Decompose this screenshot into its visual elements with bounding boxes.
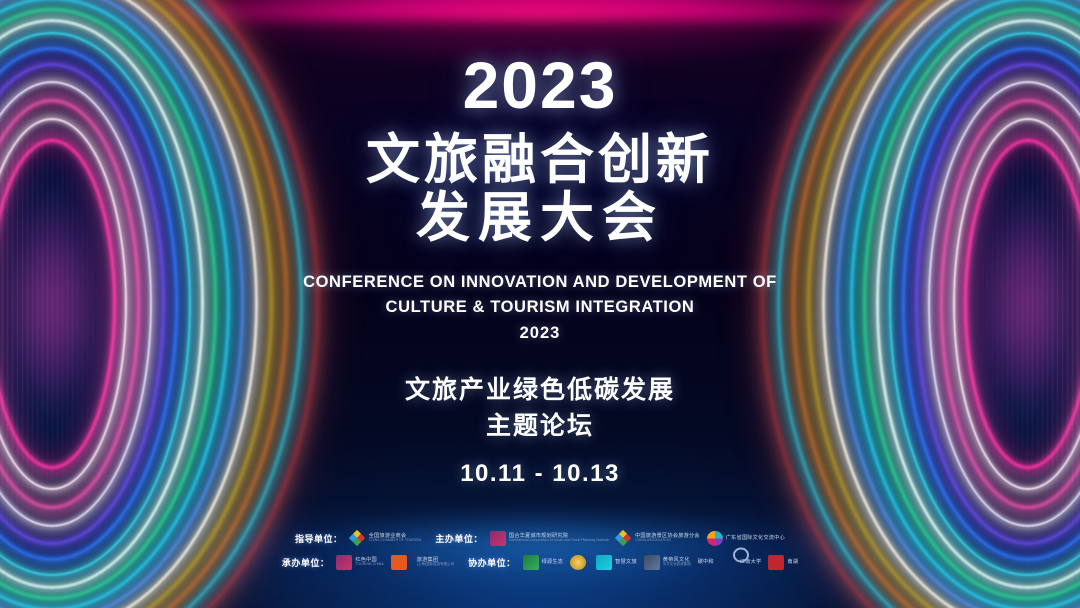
sponsor-logo-mark-icon: [336, 555, 352, 570]
sponsor-logo-mark-icon: [570, 555, 586, 570]
main-title-cn: 文旅融合创新 发展大会: [366, 132, 714, 248]
sponsor-name-cn: 绿源生态: [542, 560, 564, 565]
sponsor-row: 承办单位：红色中国TOURISM CHINA旅游集团(上海)国际旅游有限公司协办…: [282, 555, 798, 570]
sponsor-logo-mark-icon: [644, 555, 660, 570]
sponsor-group: 主办单位：国合华夏城市规划研究院International Corporatio…: [435, 531, 785, 546]
sponsor-name-en: 中华文化旅游集团: [663, 563, 691, 567]
sponsor-name-cn: 智慧文旅: [615, 560, 637, 565]
sponsor-logo[interactable]: 南湖: [768, 555, 798, 570]
sponsor-logo[interactable]: 绿源生态: [523, 555, 564, 570]
main-title-en: CONFERENCE ON INNOVATION AND DEVELOPMENT…: [303, 270, 777, 347]
sponsor-logo-mark-icon: [707, 531, 723, 546]
sponsor-logo-text: 广东省国际文化交流中心: [726, 536, 785, 541]
sponsor-logo-mark-icon: [768, 555, 784, 570]
sponsor-logo[interactable]: 国合华夏城市规划研究院International Corporation of …: [490, 531, 609, 546]
sponsor-category-label: 指导单位：: [295, 532, 343, 545]
sponsor-logo[interactable]: 旅游集团(上海)国际旅游有限公司: [417, 558, 454, 567]
sponsor-category-label: 主办单位：: [435, 532, 483, 545]
sponsor-logo-text: 红色中国TOURISM CHINA: [355, 558, 383, 567]
sponsor-logo-mark-icon: [523, 555, 539, 570]
sponsor-name-en: International Corporation of Urban and R…: [509, 539, 609, 543]
sponsor-logo-text: 全国旅游业商会CHINA CHAMBER OF TOURISM: [369, 534, 422, 543]
sponsor-name-en: CHINA CHAMBER OF TOURISM: [369, 539, 422, 543]
sponsor-logo-mark-icon: [350, 531, 366, 546]
sponsor-logo[interactable]: [570, 555, 589, 570]
sponsor-strip: 指导单位：全国旅游业商会CHINA CHAMBER OF TOURISM主办单位…: [0, 531, 1080, 570]
sponsor-logo-text: 绿源生态: [542, 560, 564, 565]
main-title-cn-line2: 发展大会: [366, 190, 714, 248]
forum-subtitle-line1: 文旅产业绿色低碳发展: [405, 372, 675, 408]
sponsor-logo-text: 碳中和: [698, 560, 714, 565]
sponsor-group: 协办单位：绿源生态智慧文旅黄帝风文化中华文化旅游集团碳中和江南大学南湖: [468, 555, 798, 570]
year-heading: 2023: [463, 52, 618, 118]
sponsor-logo-mark-icon: [596, 555, 612, 570]
sponsor-name-en: TOURISM CHINA: [355, 563, 383, 567]
sponsor-category-label: 协办单位：: [468, 556, 516, 569]
main-title-cn-line1: 文旅融合创新: [366, 130, 714, 190]
poster-content: 2023 文旅融合创新 发展大会 CONFERENCE ON INNOVATIO…: [0, 0, 1080, 608]
sponsor-logo-text: 国合华夏城市规划研究院International Corporation of …: [509, 534, 609, 543]
sponsor-logo[interactable]: 江南大学: [721, 555, 762, 570]
event-dates: 10.11 - 10.13: [460, 460, 620, 488]
sponsor-logo[interactable]: [391, 555, 410, 570]
sponsor-logo[interactable]: 碳中和: [698, 560, 714, 565]
sponsor-row: 指导单位：全国旅游业商会CHINA CHAMBER OF TOURISM主办单位…: [295, 531, 785, 546]
sponsor-logo-mark-icon: [733, 548, 749, 563]
sponsor-logo[interactable]: 广东省国际文化交流中心: [707, 531, 785, 546]
sponsor-logo[interactable]: 智慧文旅: [596, 555, 637, 570]
sponsor-group: 承办单位：红色中国TOURISM CHINA旅游集团(上海)国际旅游有限公司: [282, 555, 454, 570]
main-title-en-year: 2023: [303, 321, 777, 347]
sponsor-logo[interactable]: 中国旅游景区协会旅游分会CHINA ASSOCIATION: [616, 531, 700, 546]
sponsor-logo-mark-icon: [616, 531, 632, 546]
sponsor-logo[interactable]: 红色中国TOURISM CHINA: [336, 555, 383, 570]
sponsor-logo[interactable]: 黄帝风文化中华文化旅游集团: [644, 555, 691, 570]
sponsor-category-label: 承办单位：: [282, 556, 330, 569]
poster-root: 2023 文旅融合创新 发展大会 CONFERENCE ON INNOVATIO…: [0, 0, 1080, 608]
sponsor-group: 指导单位：全国旅游业商会CHINA CHAMBER OF TOURISM: [295, 531, 421, 546]
sponsor-logo-text: 黄帝风文化中华文化旅游集团: [663, 558, 691, 567]
sponsor-name-en: CHINA ASSOCIATION: [635, 539, 700, 543]
forum-subtitle: 文旅产业绿色低碳发展 主题论坛: [405, 372, 675, 445]
sponsor-logo-mark-icon: [490, 531, 506, 546]
sponsor-logo-mark-icon: [391, 555, 407, 570]
sponsor-name-cn: 碳中和: [698, 560, 714, 565]
sponsor-logo[interactable]: 全国旅游业商会CHINA CHAMBER OF TOURISM: [350, 531, 422, 546]
main-title-en-line2: CULTURE & TOURISM INTEGRATION: [386, 298, 695, 316]
main-title-en-line1: CONFERENCE ON INNOVATION AND DEVELOPMENT…: [303, 273, 777, 291]
forum-subtitle-line2: 主题论坛: [405, 408, 675, 444]
sponsor-logo-text: 南湖: [787, 560, 798, 565]
sponsor-logo-text: 旅游集团(上海)国际旅游有限公司: [417, 558, 454, 567]
sponsor-logo-text: 中国旅游景区协会旅游分会CHINA ASSOCIATION: [635, 534, 700, 543]
sponsor-logo-text: 智慧文旅: [615, 560, 637, 565]
sponsor-name-cn: 南湖: [787, 560, 798, 565]
sponsor-name-cn: 广东省国际文化交流中心: [726, 536, 785, 541]
sponsor-name-en: (上海)国际旅游有限公司: [417, 563, 454, 567]
